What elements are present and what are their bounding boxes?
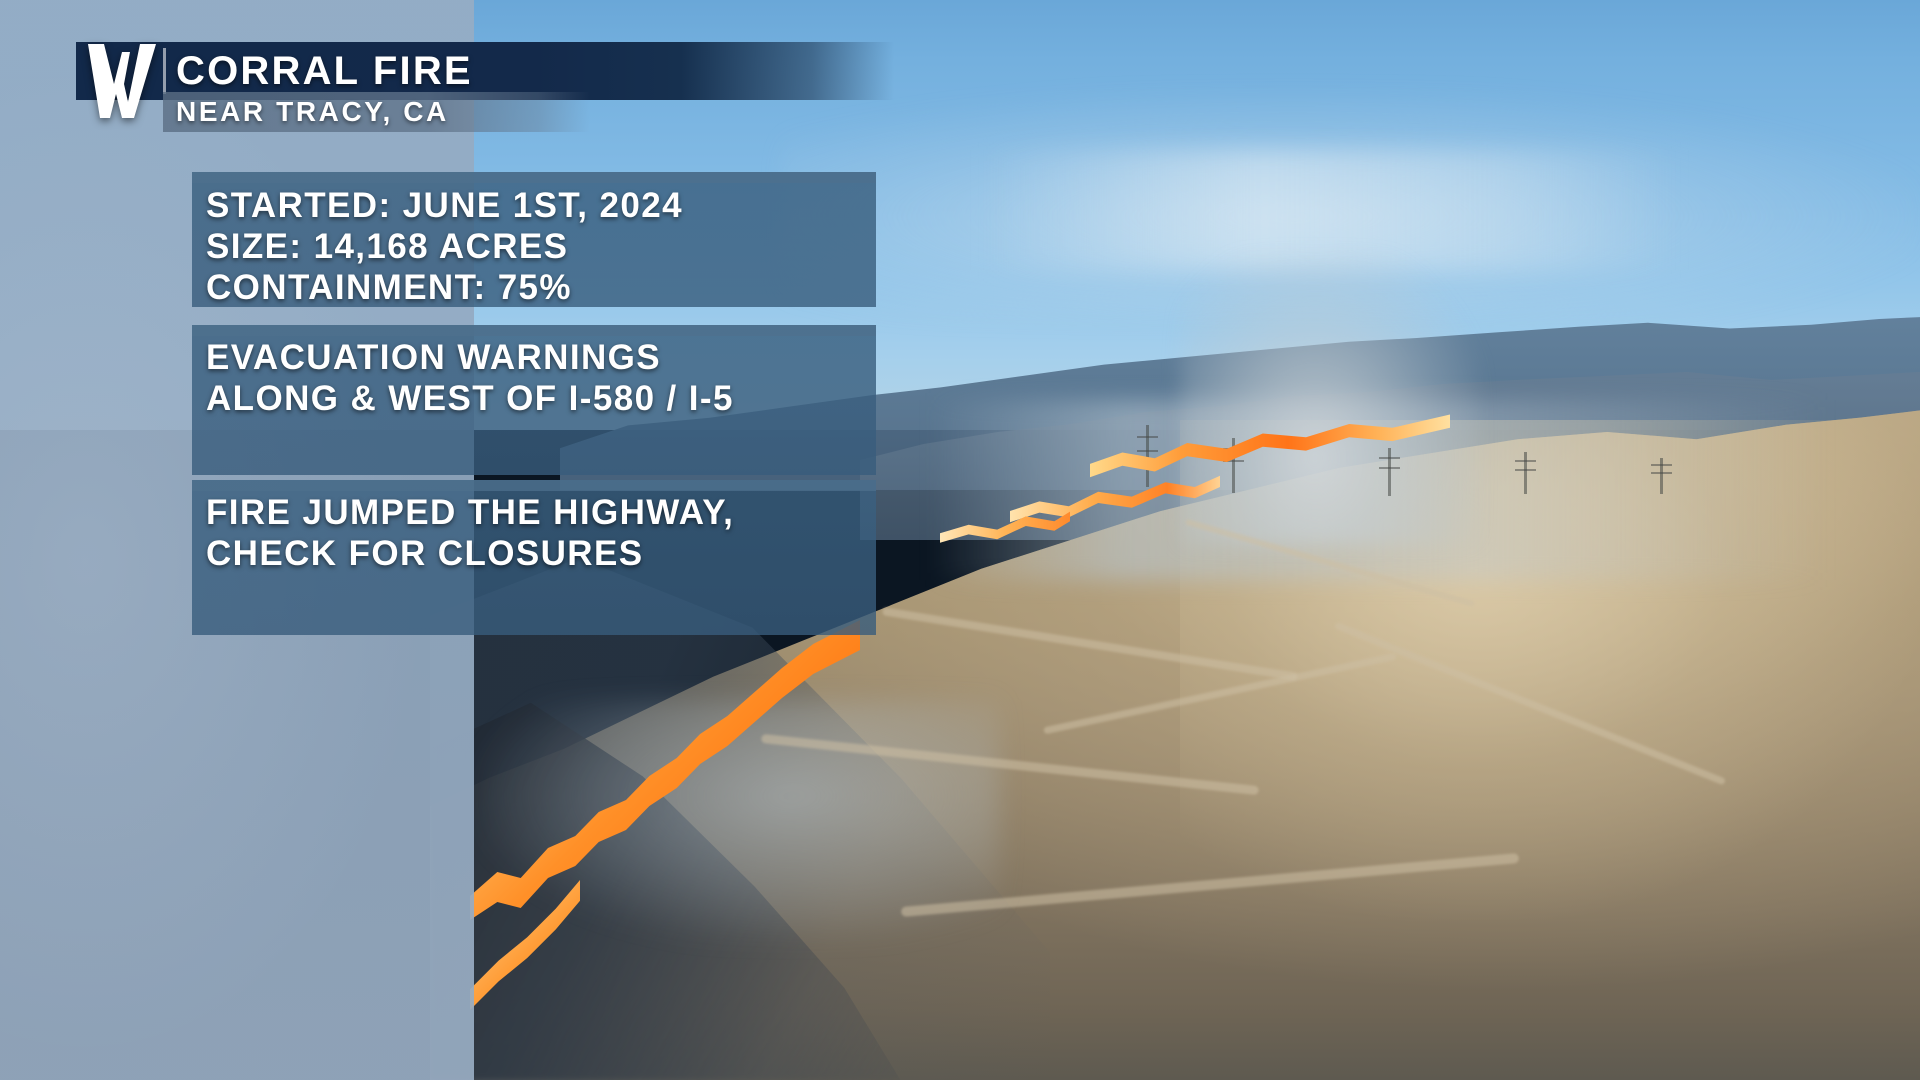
broadcast-graphic: CORRAL FIRE NEAR TRACY, CA STARTED: JUNE… [0,0,1920,1080]
page-title: CORRAL FIRE [176,44,473,98]
evacuation-heading-line: EVACUATION WARNINGS [206,337,661,378]
title-divider [163,48,166,94]
fire-size-line: SIZE: 14,168 ACRES [206,226,568,267]
transmission-pylon [1388,448,1391,496]
sky-haze-band [980,150,1680,270]
highway-jumped-line: FIRE JUMPED THE HIGHWAY, [206,492,734,533]
transmission-pylon [1660,458,1663,494]
location-subtitle: NEAR TRACY, CA [176,92,449,132]
weathernation-w-logo [84,38,160,120]
transmission-pylon [1146,425,1149,487]
fire-start-date-line: STARTED: JUNE 1ST, 2024 [206,185,683,226]
fire-containment-line: CONTAINMENT: 75% [206,267,572,308]
low-smoke [480,700,1000,940]
check-closures-line: CHECK FOR CLOSURES [206,533,643,574]
transmission-pylon [1524,452,1527,494]
smoke-plume [1180,255,1480,545]
evacuation-area-line: ALONG & WEST OF I-580 / I-5 [206,378,734,419]
